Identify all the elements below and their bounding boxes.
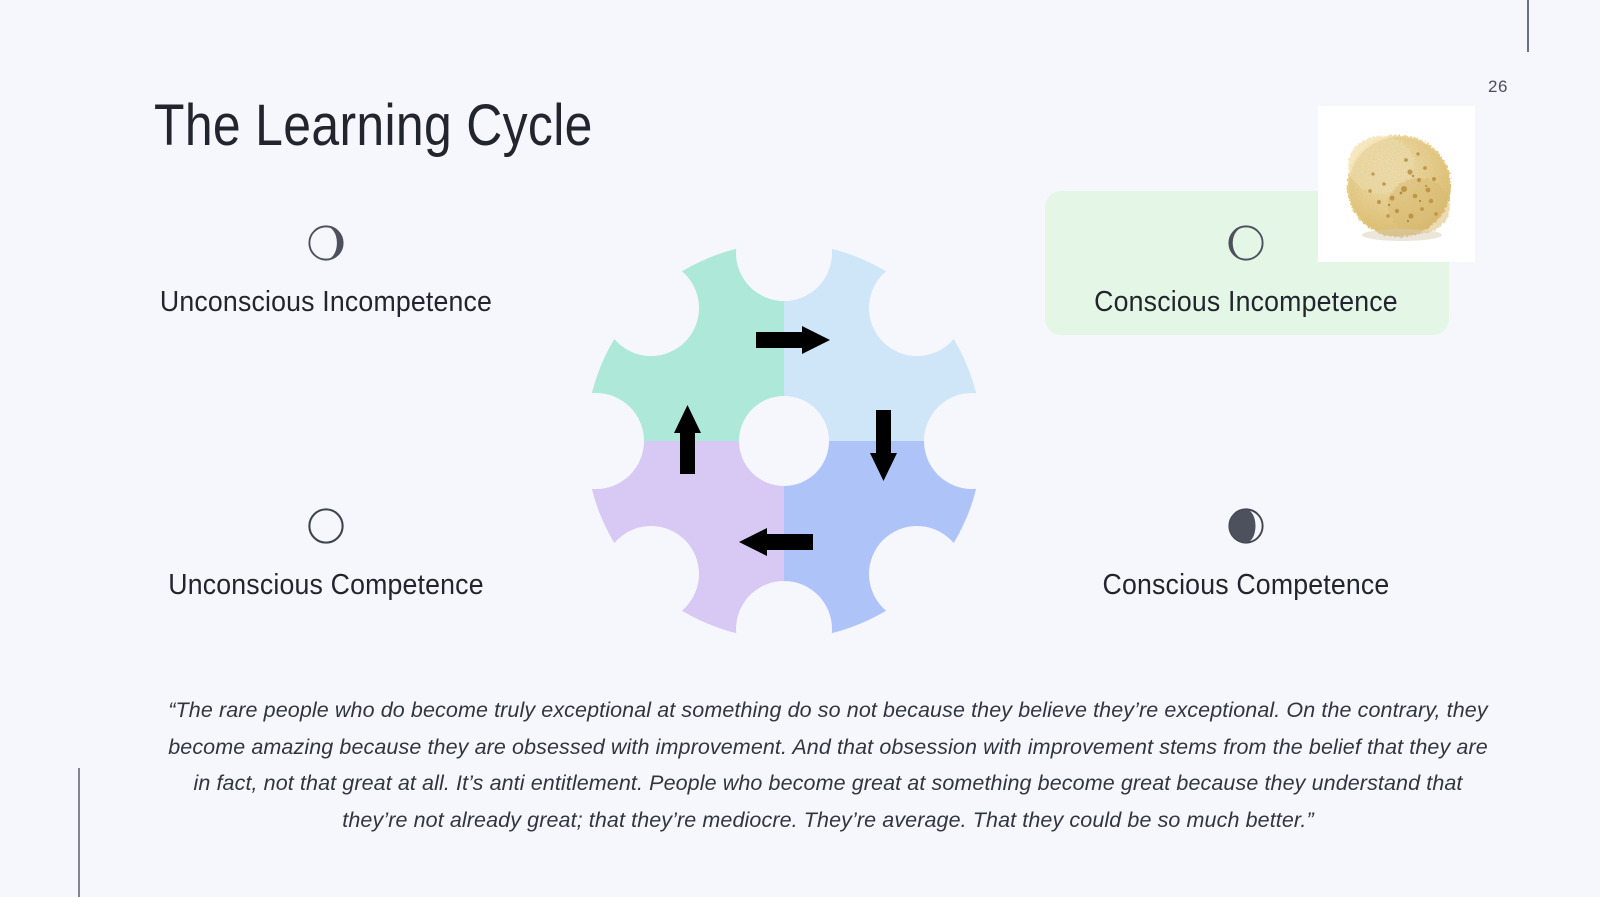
quote-text: “The rare people who do become truly exc… bbox=[168, 692, 1488, 838]
quadrant-unconscious-incompetence[interactable]: Unconscious Incompetence bbox=[96, 224, 556, 319]
decorative-rule-top-right bbox=[1527, 0, 1529, 52]
slide-root: 26 The Learning Cycle bbox=[0, 0, 1600, 897]
moon-phase-new-moon-icon bbox=[307, 507, 345, 545]
quadrant-label: Unconscious Incompetence bbox=[114, 286, 537, 319]
quadrant-label: Conscious Competence bbox=[1034, 569, 1457, 602]
decorative-rule-bottom-left bbox=[78, 768, 80, 897]
cog-quadrant-top-left bbox=[578, 243, 784, 441]
moon-phase-waning-crescent-icon bbox=[1227, 224, 1265, 262]
learning-cycle-diagram bbox=[578, 243, 990, 639]
quadrant-unconscious-competence[interactable]: Unconscious Competence bbox=[96, 507, 556, 602]
quadrant-label: Unconscious Competence bbox=[114, 569, 537, 602]
quadrant-label: Conscious Incompetence bbox=[1034, 286, 1457, 319]
page-title: The Learning Cycle bbox=[154, 92, 593, 159]
sea-sponge-image bbox=[1318, 106, 1475, 262]
quadrant-conscious-competence[interactable]: Conscious Competence bbox=[1016, 507, 1476, 602]
moon-phase-waning-gibbous-icon bbox=[307, 224, 345, 262]
moon-phase-last-quarter-icon bbox=[1227, 507, 1265, 545]
sponge-photo-card bbox=[1318, 106, 1475, 262]
page-number: 26 bbox=[1478, 77, 1518, 97]
